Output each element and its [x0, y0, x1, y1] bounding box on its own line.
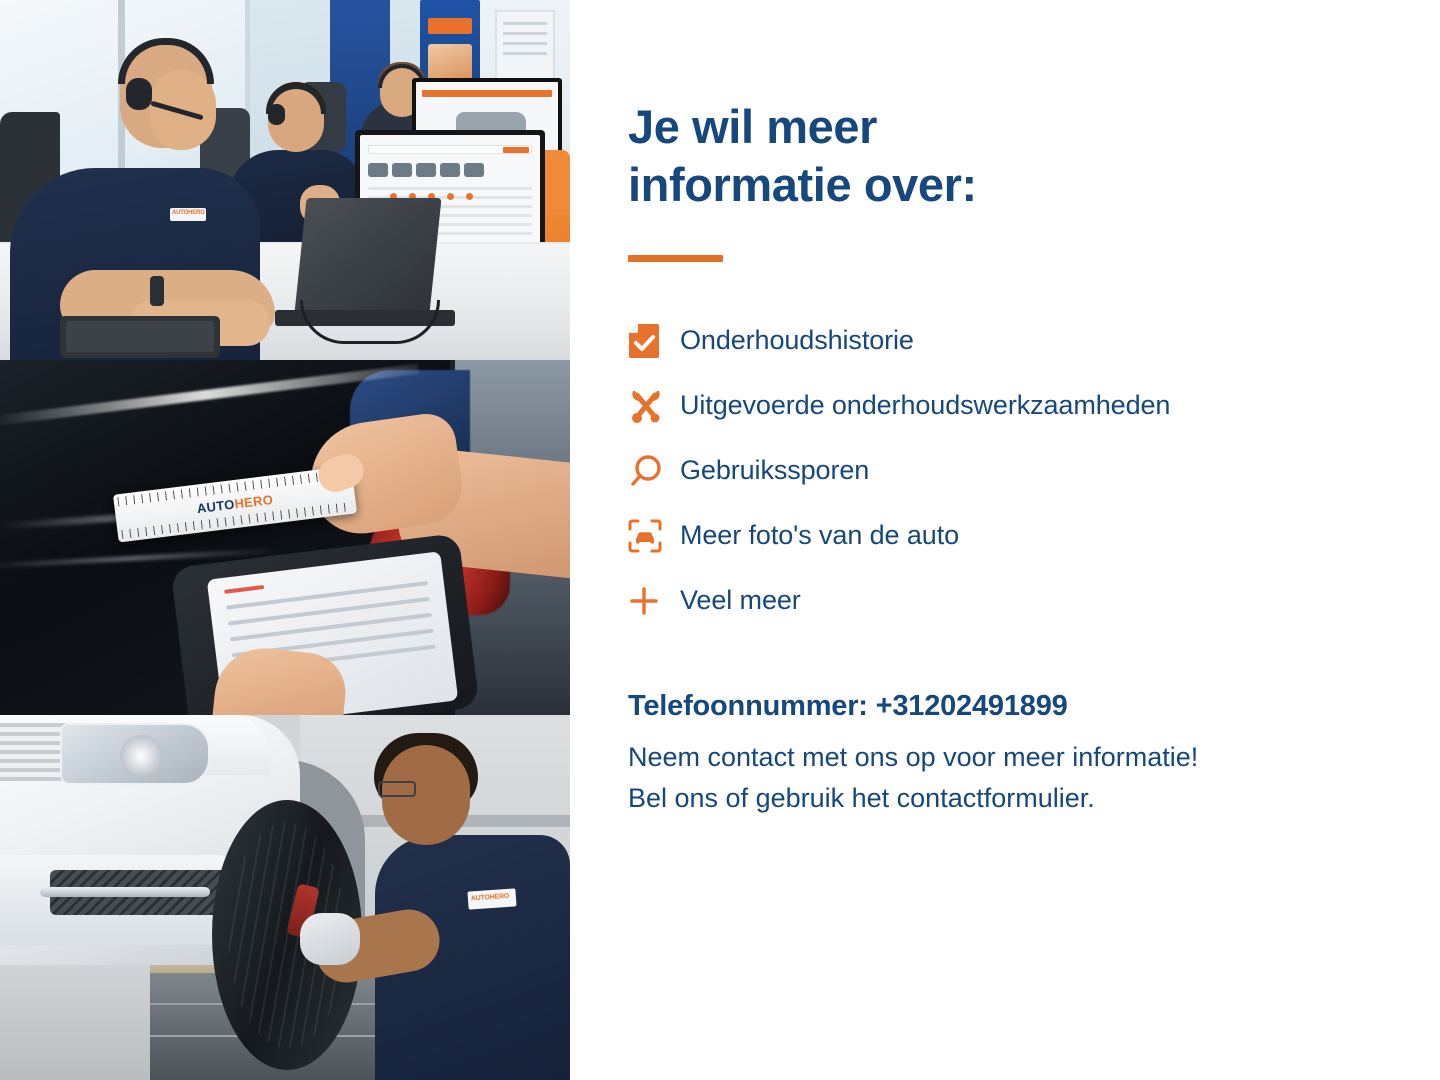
page-title-line-1: Je wil meer [628, 100, 877, 153]
photo3-chrome-trim [40, 887, 210, 897]
photo1-tablet-on-desk [60, 316, 220, 358]
photo1-cable [300, 300, 440, 344]
feature-list: Onderhoudshistorie Uitgevoerd [628, 308, 1398, 633]
promo-page: AUTOHERO [0, 0, 1440, 1080]
list-item-label: Uitgevoerde onderhoudswerkzaamheden [680, 390, 1170, 421]
list-item-label: Meer foto's van de auto [680, 520, 959, 551]
page-title-line-2: informatie over: [628, 158, 977, 211]
photo1-screen-car-thumbnails [368, 163, 484, 177]
page-title: Je wil meer informatie over: [628, 98, 1128, 215]
photo1-screen-search-bar [368, 145, 532, 154]
contact-block: Telefoonnummer: +31202491899 Neem contac… [628, 690, 1408, 819]
call-center-agents-photo [0, 0, 570, 360]
photo1-agent-1-logo-badge [170, 208, 206, 221]
list-item-label: Gebruikssporen [680, 455, 869, 486]
photo3-headlight [60, 723, 210, 785]
phone-number[interactable]: Telefoonnummer: +31202491899 [628, 690, 1408, 723]
photo3-technician-glasses [378, 781, 416, 797]
plus-icon [628, 585, 680, 617]
photo-strip: AUTOHERO [0, 0, 570, 1080]
photo3-technician-glove [300, 913, 360, 965]
list-item: Gebruikssporen [628, 438, 1398, 503]
list-item-label: Veel meer [680, 585, 801, 616]
list-item: Onderhoudshistorie [628, 308, 1398, 373]
car-scan-icon [628, 519, 680, 553]
list-item: Meer foto's van de auto [628, 503, 1398, 568]
photo1-agent-1-watch [150, 276, 164, 306]
car-inspection-ruler-photo: AUTOHERO [0, 360, 570, 715]
list-item: Uitgevoerde onderhoudswerkzaamheden [628, 373, 1398, 438]
contact-text-line-2: Bel ons of gebruik het contactformulier. [628, 783, 1095, 813]
photo1-agent-1-earcup [126, 78, 152, 110]
list-item-label: Onderhoudshistorie [680, 325, 914, 356]
tyre-inspection-photo [0, 715, 570, 1080]
content-panel: Je wil meer informatie over: We geven je… [570, 0, 1440, 1080]
title-divider [628, 255, 723, 262]
magnifier-icon [628, 454, 680, 488]
document-check-icon [628, 323, 680, 359]
contact-text: Neem contact met ons op voor meer inform… [628, 737, 1408, 819]
wrench-screwdriver-icon [628, 388, 680, 424]
photo3-autohero-sleeve-logo [467, 888, 516, 909]
list-item: Veel meer [628, 568, 1398, 633]
photo1-agent-2-earcup [268, 104, 285, 125]
contact-text-line-1: Neem contact met ons op voor meer inform… [628, 742, 1198, 772]
